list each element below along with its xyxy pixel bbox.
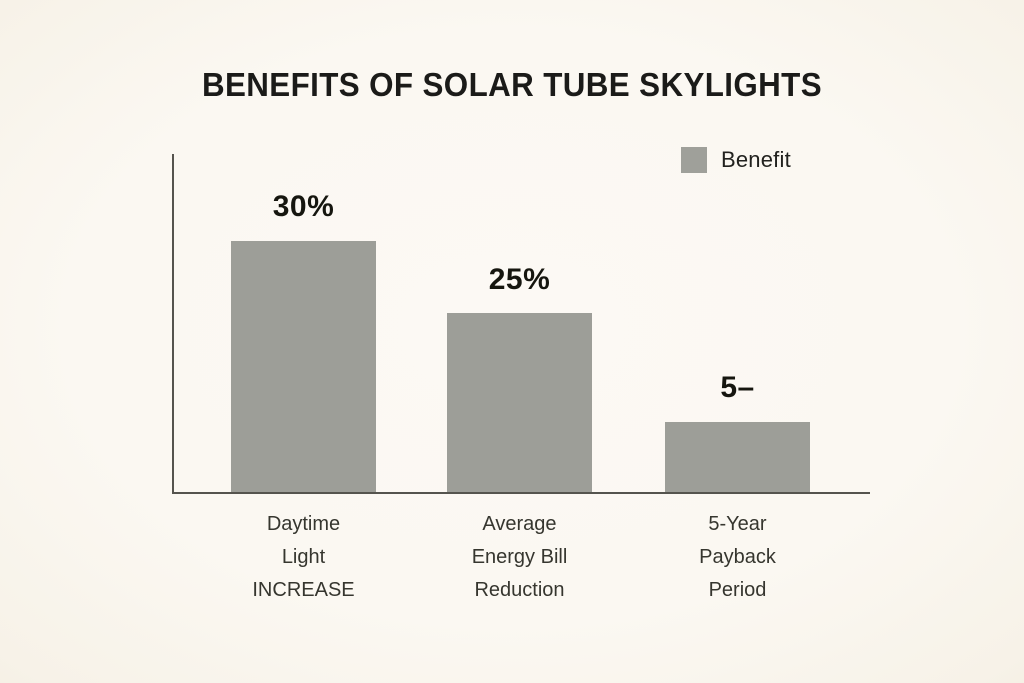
x-axis-spine (172, 492, 870, 494)
category-line-1-2: Reduction (419, 574, 620, 607)
category-line-2-1: Payback (637, 541, 838, 574)
category-line-1-1: Energy Bill (419, 541, 620, 574)
plot-area: 30% Daytime Light INCREASE 25% Average E… (0, 0, 1024, 683)
category-line-2-0: 5-Year (637, 508, 838, 541)
bar-average-energy-bill-reduction[interactable] (447, 313, 592, 492)
bar-category-label-1: Average Energy Bill Reduction (419, 508, 620, 607)
category-line-1-0: Average (419, 508, 620, 541)
bar-value-label-0: 30% (231, 190, 376, 224)
bar-value-label-1: 25% (447, 263, 592, 297)
bar-daytime-light-increase[interactable] (231, 241, 376, 492)
bar-5-year-payback-period[interactable] (665, 422, 810, 492)
category-line-0-1: Light (203, 541, 404, 574)
bar-category-label-2: 5-Year Payback Period (637, 508, 838, 607)
y-axis-spine (172, 154, 174, 494)
category-line-0-0: Daytime (203, 508, 404, 541)
category-line-2-2: Period (637, 574, 838, 607)
bar-value-label-2: 5– (665, 371, 810, 405)
bar-category-label-0: Daytime Light INCREASE (203, 508, 404, 607)
category-line-0-2: INCREASE (203, 574, 404, 607)
bar-chart-figure: BENEFITS OF SOLAR TUBE SKYLIGHTS Benefit… (0, 0, 1024, 683)
